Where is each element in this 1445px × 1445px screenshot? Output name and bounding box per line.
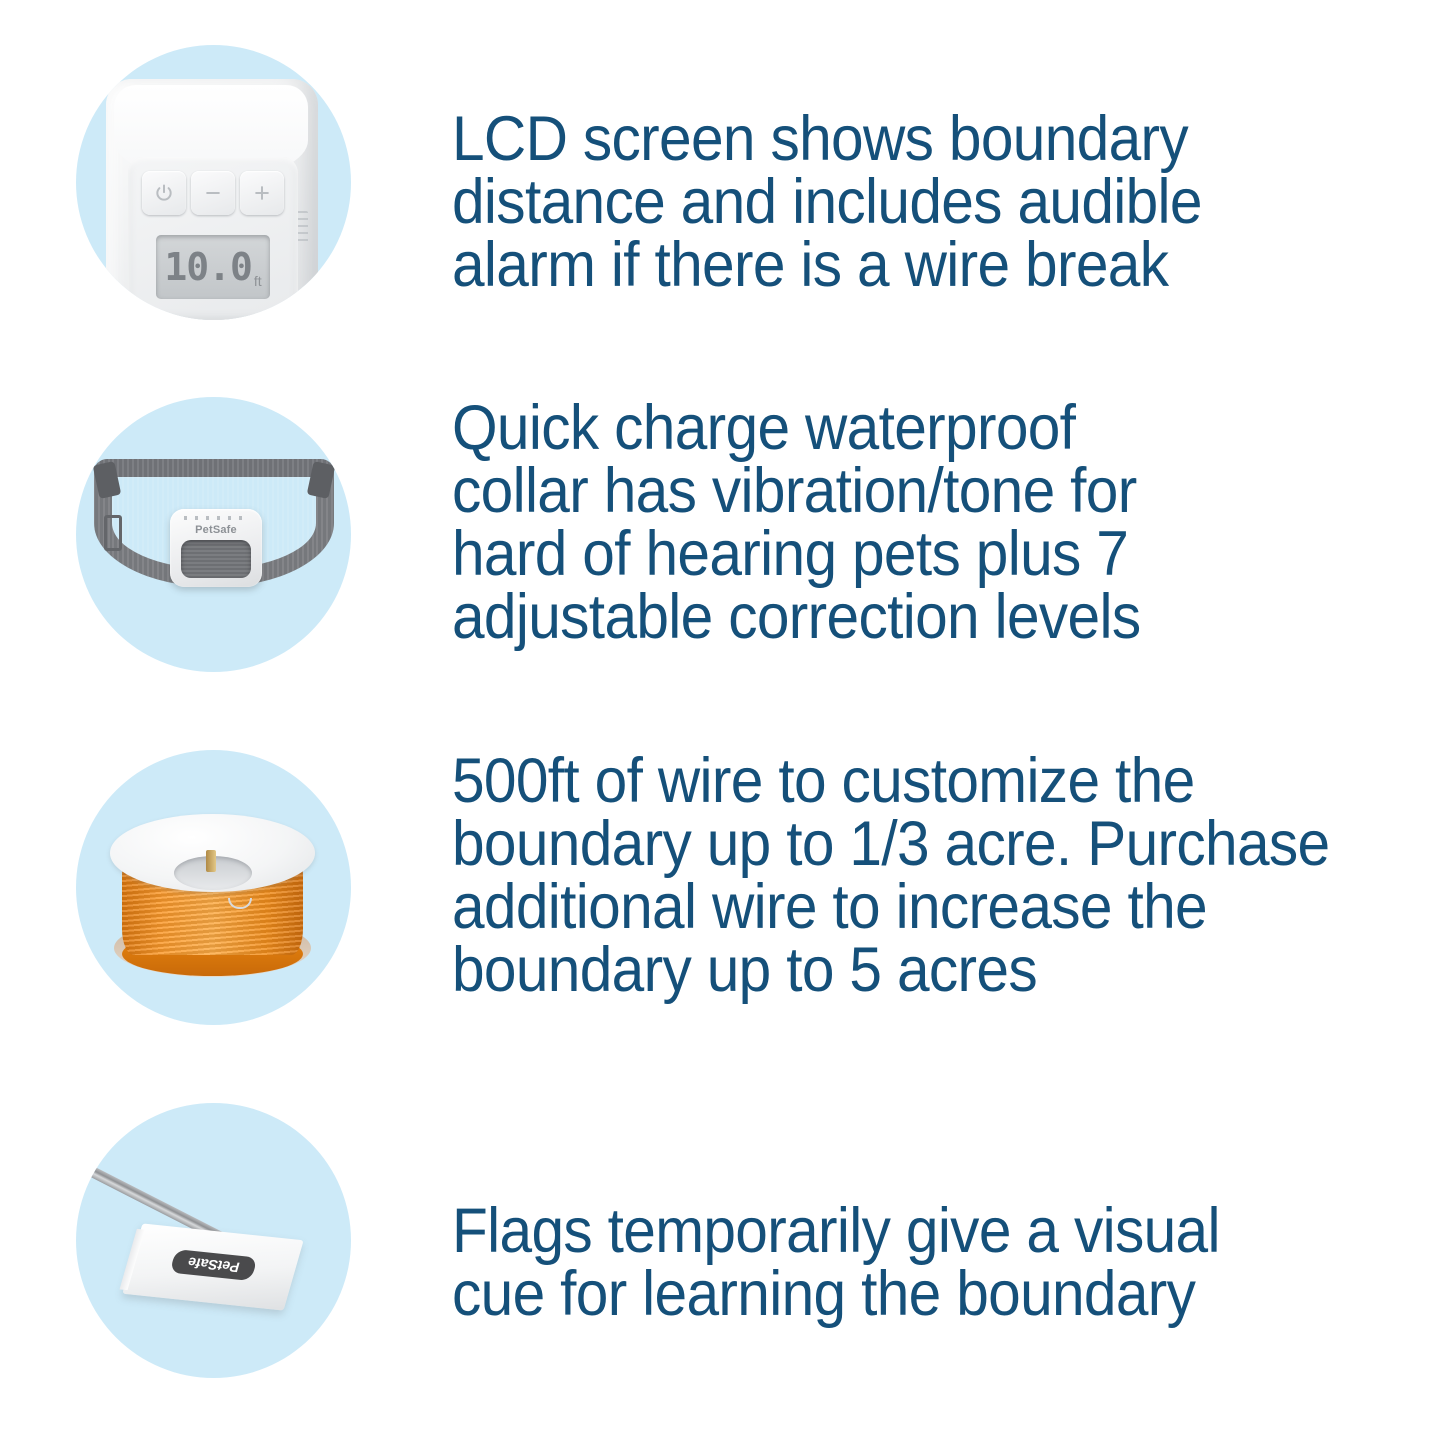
- transmitter-button-row: [142, 171, 284, 215]
- power-icon: [142, 171, 186, 215]
- feature-text: Quick charge waterproof collar has vibra…: [452, 397, 1363, 649]
- lcd-value: 10.0: [164, 248, 252, 286]
- collar-receiver-box: PetSafe: [170, 509, 262, 587]
- transmitter-control-panel: 10.0 ft: [128, 157, 298, 320]
- collar-led-row: [184, 516, 248, 520]
- plus-icon: [240, 171, 284, 215]
- collar-contact-points: [181, 540, 251, 578]
- boundary-flag-icon: PetSafe: [76, 1103, 351, 1378]
- feature-list: 10.0 ft LCD screen shows boundary distan…: [0, 0, 1445, 1445]
- brand-logo: PetSafe: [170, 524, 262, 536]
- transmitter-body: 10.0 ft: [106, 79, 318, 320]
- feature-text: LCD screen shows boundary distance and i…: [452, 108, 1363, 297]
- feature-row: 10.0 ft LCD screen shows boundary distan…: [0, 45, 1445, 320]
- spool-top-flange: [110, 814, 315, 892]
- feature-row: 500ft of wire to customize the boundary …: [0, 750, 1445, 1025]
- feature-text: Flags temporarily give a visual cue for …: [452, 1200, 1363, 1326]
- spool-wire-clip: [206, 850, 216, 872]
- collar-slider: [104, 515, 122, 551]
- transmitter-illustration: 10.0 ft: [76, 45, 351, 320]
- feature-row: PetSafe Quick charge waterproof collar h…: [0, 397, 1445, 672]
- spool-illustration: [76, 750, 351, 1025]
- flag-cloth: PetSafe: [122, 1223, 303, 1310]
- collar-assembly: PetSafe: [94, 459, 334, 594]
- feature-row: PetSafe Flags temporarily give a visual …: [0, 1103, 1445, 1378]
- lcd-unit: ft: [252, 273, 262, 299]
- brand-logo: PetSafe: [169, 1249, 257, 1281]
- boundary-flag: PetSafe: [76, 1153, 351, 1333]
- flag-illustration: PetSafe: [76, 1103, 351, 1378]
- wire-spool: [110, 792, 315, 977]
- collar-illustration: PetSafe: [76, 397, 351, 672]
- feature-text: 500ft of wire to customize the boundary …: [452, 750, 1438, 1002]
- wire-spool-icon: [76, 750, 351, 1025]
- transmitter-lcd-icon: 10.0 ft: [76, 45, 351, 320]
- lcd-display: 10.0 ft: [156, 235, 270, 299]
- minus-icon: [191, 171, 235, 215]
- receiver-collar-icon: PetSafe: [76, 397, 351, 672]
